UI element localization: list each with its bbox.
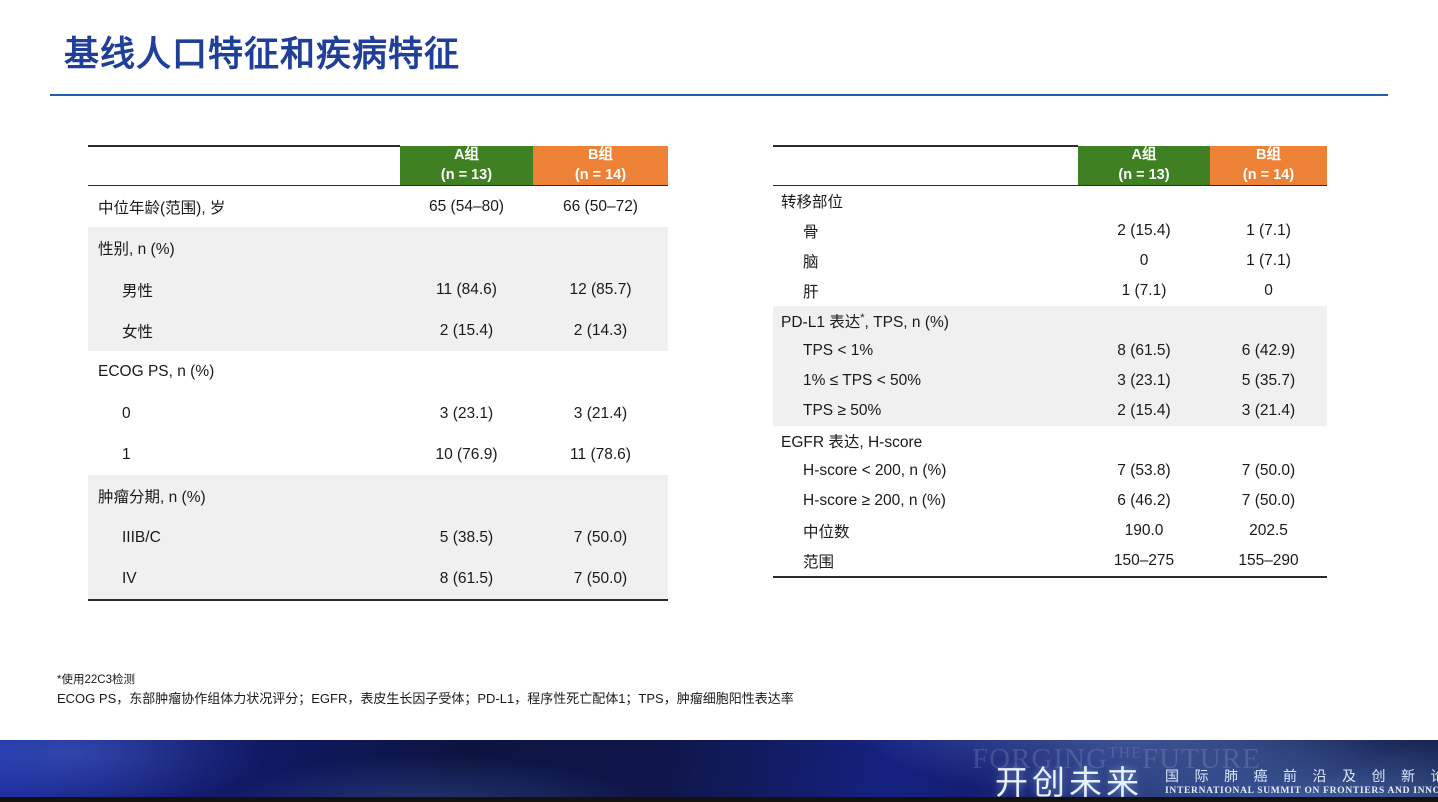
row-value-a: 10 (76.9) [400, 434, 533, 475]
baseline-characteristics-table-right: A组 (n = 13) B组 (n = 14) 转移部位 骨 2 (15.4) … [773, 145, 1327, 578]
row-value-b: 1 (7.1) [1210, 216, 1327, 246]
right-table-header-row: A组 (n = 13) B组 (n = 14) [773, 146, 1327, 185]
table-row: 肿瘤分期, n (%) [88, 475, 668, 517]
row-value-b [1210, 306, 1327, 336]
table-row: 范围 150–275 155–290 [773, 546, 1327, 577]
row-value-b: 3 (21.4) [533, 393, 668, 434]
row-label: 中位年龄(范围), 岁 [88, 186, 400, 228]
footnotes: *使用22C3检测 ECOG PS，东部肿瘤协作组体力状况评分；EGFR，表皮生… [57, 672, 1377, 709]
row-label: 肝 [773, 276, 1078, 306]
row-label: PD-L1 表达*, TPS, n (%) [773, 306, 1078, 336]
row-value-b: 155–290 [1210, 546, 1327, 577]
row-value-b [1210, 426, 1327, 456]
row-label: IV [88, 558, 400, 600]
left-table-header-row: A组 (n = 13) B组 (n = 14) [88, 146, 668, 185]
row-value-b: 66 (50–72) [533, 186, 668, 228]
row-value-a: 2 (15.4) [400, 310, 533, 351]
row-value-a: 11 (84.6) [400, 269, 533, 310]
row-value-a [1078, 186, 1210, 217]
left-header-group-b-n: (n = 14) [533, 166, 668, 186]
table-row: 中位年龄(范围), 岁 65 (54–80) 66 (50–72) [88, 186, 668, 228]
table-row: H-score ≥ 200, n (%) 6 (46.2) 7 (50.0) [773, 486, 1327, 516]
row-value-a: 150–275 [1078, 546, 1210, 577]
row-value-b: 3 (21.4) [1210, 396, 1327, 426]
footer-subtitle-cn: 国 际 肺 癌 前 沿 及 创 新 论 坛 [1165, 766, 1438, 786]
row-value-b: 7 (50.0) [533, 517, 668, 558]
table-row: 骨 2 (15.4) 1 (7.1) [773, 216, 1327, 246]
row-label: TPS ≥ 50% [773, 396, 1078, 426]
right-header-blank-cell [773, 146, 1078, 185]
table-row: IIIB/C 5 (38.5) 7 (50.0) [88, 517, 668, 558]
right-header-group-a: A组 (n = 13) [1078, 146, 1210, 185]
row-label: IIIB/C [88, 517, 400, 558]
row-value-a: 3 (23.1) [400, 393, 533, 434]
row-value-b [533, 227, 668, 269]
row-value-a: 5 (38.5) [400, 517, 533, 558]
table-row: H-score < 200, n (%) 7 (53.8) 7 (50.0) [773, 456, 1327, 486]
footnote-line-1: *使用22C3检测 [57, 672, 1377, 689]
slide-header: 基线人口特征和疾病特征 [0, 0, 1438, 100]
row-value-a: 3 (23.1) [1078, 366, 1210, 396]
row-value-b: 0 [1210, 276, 1327, 306]
right-header-group-a-name: A组 [1132, 147, 1157, 163]
row-label: H-score < 200, n (%) [773, 456, 1078, 486]
row-value-b: 5 (35.7) [1210, 366, 1327, 396]
row-value-a [1078, 306, 1210, 336]
row-value-a [400, 351, 533, 393]
footer-subtitle-en: INTERNATIONAL SUMMIT ON FRONTIERS AND IN… [1165, 786, 1438, 796]
row-value-a [400, 227, 533, 269]
table-row: EGFR 表达, H-score [773, 426, 1327, 456]
title-divider [50, 94, 1388, 96]
right-table: A组 (n = 13) B组 (n = 14) 转移部位 骨 2 (15.4) … [773, 145, 1327, 578]
row-label: 骨 [773, 216, 1078, 246]
baseline-characteristics-table-left: A组 (n = 13) B组 (n = 14) 中位年龄(范围), 岁 65 (… [88, 145, 668, 601]
row-label: 脑 [773, 246, 1078, 276]
row-label: ECOG PS, n (%) [88, 351, 400, 393]
table-row: 肝 1 (7.1) 0 [773, 276, 1327, 306]
table-row: 0 3 (23.1) 3 (21.4) [88, 393, 668, 434]
row-value-a: 190.0 [1078, 516, 1210, 546]
row-label: 女性 [88, 310, 400, 351]
left-header-group-b-name: B组 [588, 147, 613, 163]
table-row: TPS < 1% 8 (61.5) 6 (42.9) [773, 336, 1327, 366]
table-row: TPS ≥ 50% 2 (15.4) 3 (21.4) [773, 396, 1327, 426]
row-label: 肿瘤分期, n (%) [88, 475, 400, 517]
row-value-a: 65 (54–80) [400, 186, 533, 228]
row-value-a: 8 (61.5) [400, 558, 533, 600]
row-value-a: 0 [1078, 246, 1210, 276]
right-header-group-b-name: B组 [1256, 147, 1281, 163]
table-row: 中位数 190.0 202.5 [773, 516, 1327, 546]
left-header-blank-cell [88, 146, 400, 185]
table-row: 1% ≤ TPS < 50% 3 (23.1) 5 (35.7) [773, 366, 1327, 396]
row-value-b: 7 (50.0) [1210, 456, 1327, 486]
row-value-b [533, 475, 668, 517]
footer-brand-cn: 开创未来 [995, 756, 1143, 802]
row-value-a: 2 (15.4) [1078, 396, 1210, 426]
left-table: A组 (n = 13) B组 (n = 14) 中位年龄(范围), 岁 65 (… [88, 145, 668, 601]
right-table-body: A组 (n = 13) B组 (n = 14) 转移部位 骨 2 (15.4) … [773, 146, 1327, 578]
row-value-a: 8 (61.5) [1078, 336, 1210, 366]
table-row: 女性 2 (15.4) 2 (14.3) [88, 310, 668, 351]
left-header-group-a-name: A组 [454, 147, 479, 163]
left-table-bottom-rule [88, 600, 668, 601]
row-label: H-score ≥ 200, n (%) [773, 486, 1078, 516]
row-value-b: 202.5 [1210, 516, 1327, 546]
row-label: TPS < 1% [773, 336, 1078, 366]
left-header-group-a-n: (n = 13) [400, 166, 533, 186]
row-value-a [1078, 426, 1210, 456]
right-header-group-b-n: (n = 14) [1210, 166, 1327, 186]
table-row: 性别, n (%) [88, 227, 668, 269]
row-label: EGFR 表达, H-score [773, 426, 1078, 456]
row-value-a [400, 475, 533, 517]
table-row: IV 8 (61.5) 7 (50.0) [88, 558, 668, 600]
row-value-b [533, 351, 668, 393]
footnote-line-2: ECOG PS，东部肿瘤协作组体力状况评分；EGFR，表皮生长因子受体；PD-L… [57, 689, 1377, 709]
table-row: ECOG PS, n (%) [88, 351, 668, 393]
page-title: 基线人口特征和疾病特征 [64, 26, 460, 77]
row-label: 1 [88, 434, 400, 475]
row-label: 0 [88, 393, 400, 434]
row-value-a: 7 (53.8) [1078, 456, 1210, 486]
row-label: 转移部位 [773, 186, 1078, 217]
table-row: 转移部位 [773, 186, 1327, 217]
right-header-group-b: B组 (n = 14) [1210, 146, 1327, 185]
row-value-b: 6 (42.9) [1210, 336, 1327, 366]
row-value-b: 12 (85.7) [533, 269, 668, 310]
table-row: 1 10 (76.9) 11 (78.6) [88, 434, 668, 475]
table-row: 脑 0 1 (7.1) [773, 246, 1327, 276]
row-label: 男性 [88, 269, 400, 310]
row-label: 中位数 [773, 516, 1078, 546]
row-label-pre: PD-L1 表达 [781, 314, 860, 331]
row-value-b [1210, 186, 1327, 217]
row-label-post: , TPS, n (%) [865, 314, 949, 331]
row-value-a: 6 (46.2) [1078, 486, 1210, 516]
row-value-b: 11 (78.6) [533, 434, 668, 475]
row-value-a: 1 (7.1) [1078, 276, 1210, 306]
left-header-group-a: A组 (n = 13) [400, 146, 533, 185]
slide-footer-band: FORGINGTHEFUTURE 开创未来 国 际 肺 癌 前 沿 及 创 新 … [0, 740, 1438, 802]
right-table-bottom-rule [773, 577, 1327, 578]
right-header-group-a-n: (n = 13) [1078, 166, 1210, 186]
row-label: 范围 [773, 546, 1078, 577]
row-label: 1% ≤ TPS < 50% [773, 366, 1078, 396]
row-value-b: 1 (7.1) [1210, 246, 1327, 276]
row-value-b: 7 (50.0) [533, 558, 668, 600]
row-value-b: 2 (14.3) [533, 310, 668, 351]
table-row: 男性 11 (84.6) 12 (85.7) [88, 269, 668, 310]
table-row: PD-L1 表达*, TPS, n (%) [773, 306, 1327, 336]
left-header-group-b: B组 (n = 14) [533, 146, 668, 185]
row-label: 性别, n (%) [88, 227, 400, 269]
row-value-b: 7 (50.0) [1210, 486, 1327, 516]
left-table-body: A组 (n = 13) B组 (n = 14) 中位年龄(范围), 岁 65 (… [88, 146, 668, 601]
row-value-a: 2 (15.4) [1078, 216, 1210, 246]
